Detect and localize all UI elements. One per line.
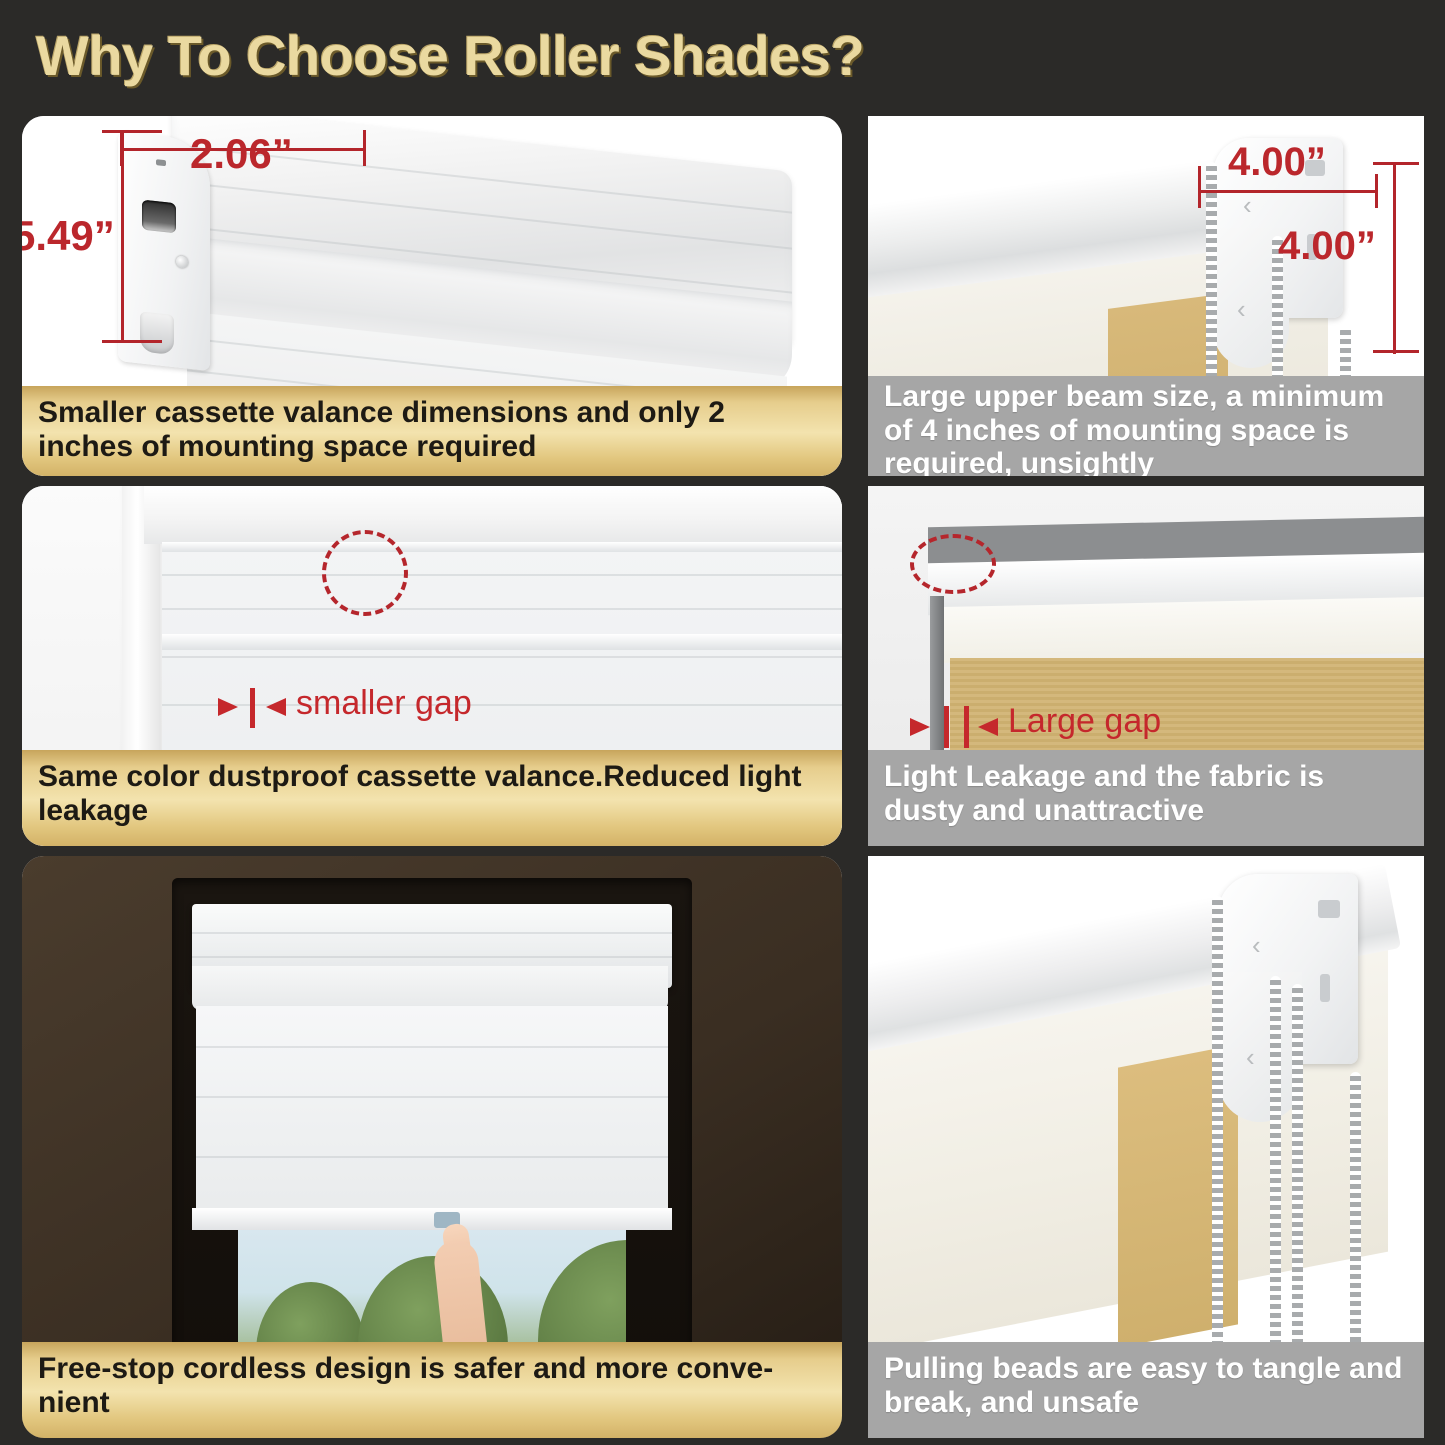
panel-smaller-cassette[interactable]: 2.06” 5.49” Smaller cassette valance dim… (22, 116, 842, 476)
gap-marker-bar-1 (944, 706, 949, 748)
panel-light-leakage[interactable]: Large gap Light Leakage and the fabric i… (868, 486, 1424, 846)
large-gap-label: Large gap (1008, 702, 1161, 741)
beam-width-label: 4.00” (1228, 140, 1326, 185)
beam-height-tick-bottom (1373, 350, 1419, 353)
gap-arrow-right (978, 718, 998, 736)
window-head-trim (144, 486, 842, 544)
cap-screw-dot (156, 159, 166, 166)
height-dim-line (121, 130, 124, 342)
panel-1-caption: Smaller cassette valance dimensions and … (22, 386, 842, 476)
white-fabric-band (942, 597, 1424, 663)
panel-grid: 2.06” 5.49” Smaller cassette valance dim… (0, 108, 1445, 1445)
panel-2-caption: Large upper beam size, a minimum of 4 in… (868, 376, 1424, 476)
panel-pulling-beads[interactable]: ‹ ‹ Pulling beads are easy to tangle and… (868, 856, 1424, 1438)
bead-chain-1[interactable] (1212, 896, 1223, 1356)
panel-4-caption: Light Leakage and the fabric is dusty an… (868, 750, 1424, 846)
height-dim-tick-bottom (102, 340, 162, 343)
gap-arrow-right (266, 698, 286, 716)
panel-6-caption: Pulling beads are easy to tangle and bre… (868, 1342, 1424, 1438)
smaller-gap-label: smaller gap (296, 684, 472, 723)
bead-chain-2[interactable] (1270, 976, 1281, 1356)
cap-slot (142, 200, 176, 234)
bead-chain-3[interactable] (1292, 984, 1303, 1356)
beam-width-tick-right (1375, 174, 1378, 208)
gap-arrow-left (218, 698, 238, 716)
gap-marker-bar-2 (964, 706, 969, 748)
bracket-lower: ‹ (1218, 972, 1302, 1122)
height-dimension-label: 5.49” (22, 212, 115, 260)
valance-lip (192, 966, 668, 1010)
bottom-rail (192, 1208, 672, 1230)
beam-width-tick-left (1198, 166, 1201, 208)
mid-rail (162, 634, 842, 650)
width-dim-tick-right (363, 130, 366, 166)
gap-highlight-circle (322, 530, 408, 616)
page-title: Why To Choose Roller Shades? (36, 20, 1396, 92)
beam-height-label: 4.00” (1278, 224, 1376, 269)
infographic-page: Why To Choose Roller Shades? (0, 0, 1445, 1445)
panel-cordless-design[interactable]: Free-stop cordless design is safer and m… (22, 856, 842, 1438)
beam-height-tick-top (1373, 162, 1419, 165)
beam-width-dim-line (1198, 190, 1378, 193)
cap-screw (176, 255, 188, 268)
beam-height-dim-line (1393, 162, 1396, 354)
panel-3-caption: Same color dustproof cassette valance.Re… (22, 750, 842, 846)
gap-highlight-circle (910, 534, 996, 594)
panel-large-beam[interactable]: ‹ ‹ 4.00” 4.00” Large upper bea (868, 116, 1424, 476)
height-dim-tick-top (102, 130, 162, 133)
width-dimension-label: 2.06” (190, 130, 293, 178)
gap-arrow-left (910, 718, 930, 736)
panel-5-caption: Free-stop cordless design is safer and m… (22, 1342, 842, 1438)
gap-marker-bar (250, 688, 255, 728)
bead-chain-4[interactable] (1350, 1072, 1361, 1356)
cap-knob (140, 311, 174, 355)
panel-dustproof-valance[interactable]: smaller gap Same color dustproof cassett… (22, 486, 842, 846)
valance-lower-band (162, 542, 842, 552)
roller-shade-fabric (196, 1006, 668, 1220)
